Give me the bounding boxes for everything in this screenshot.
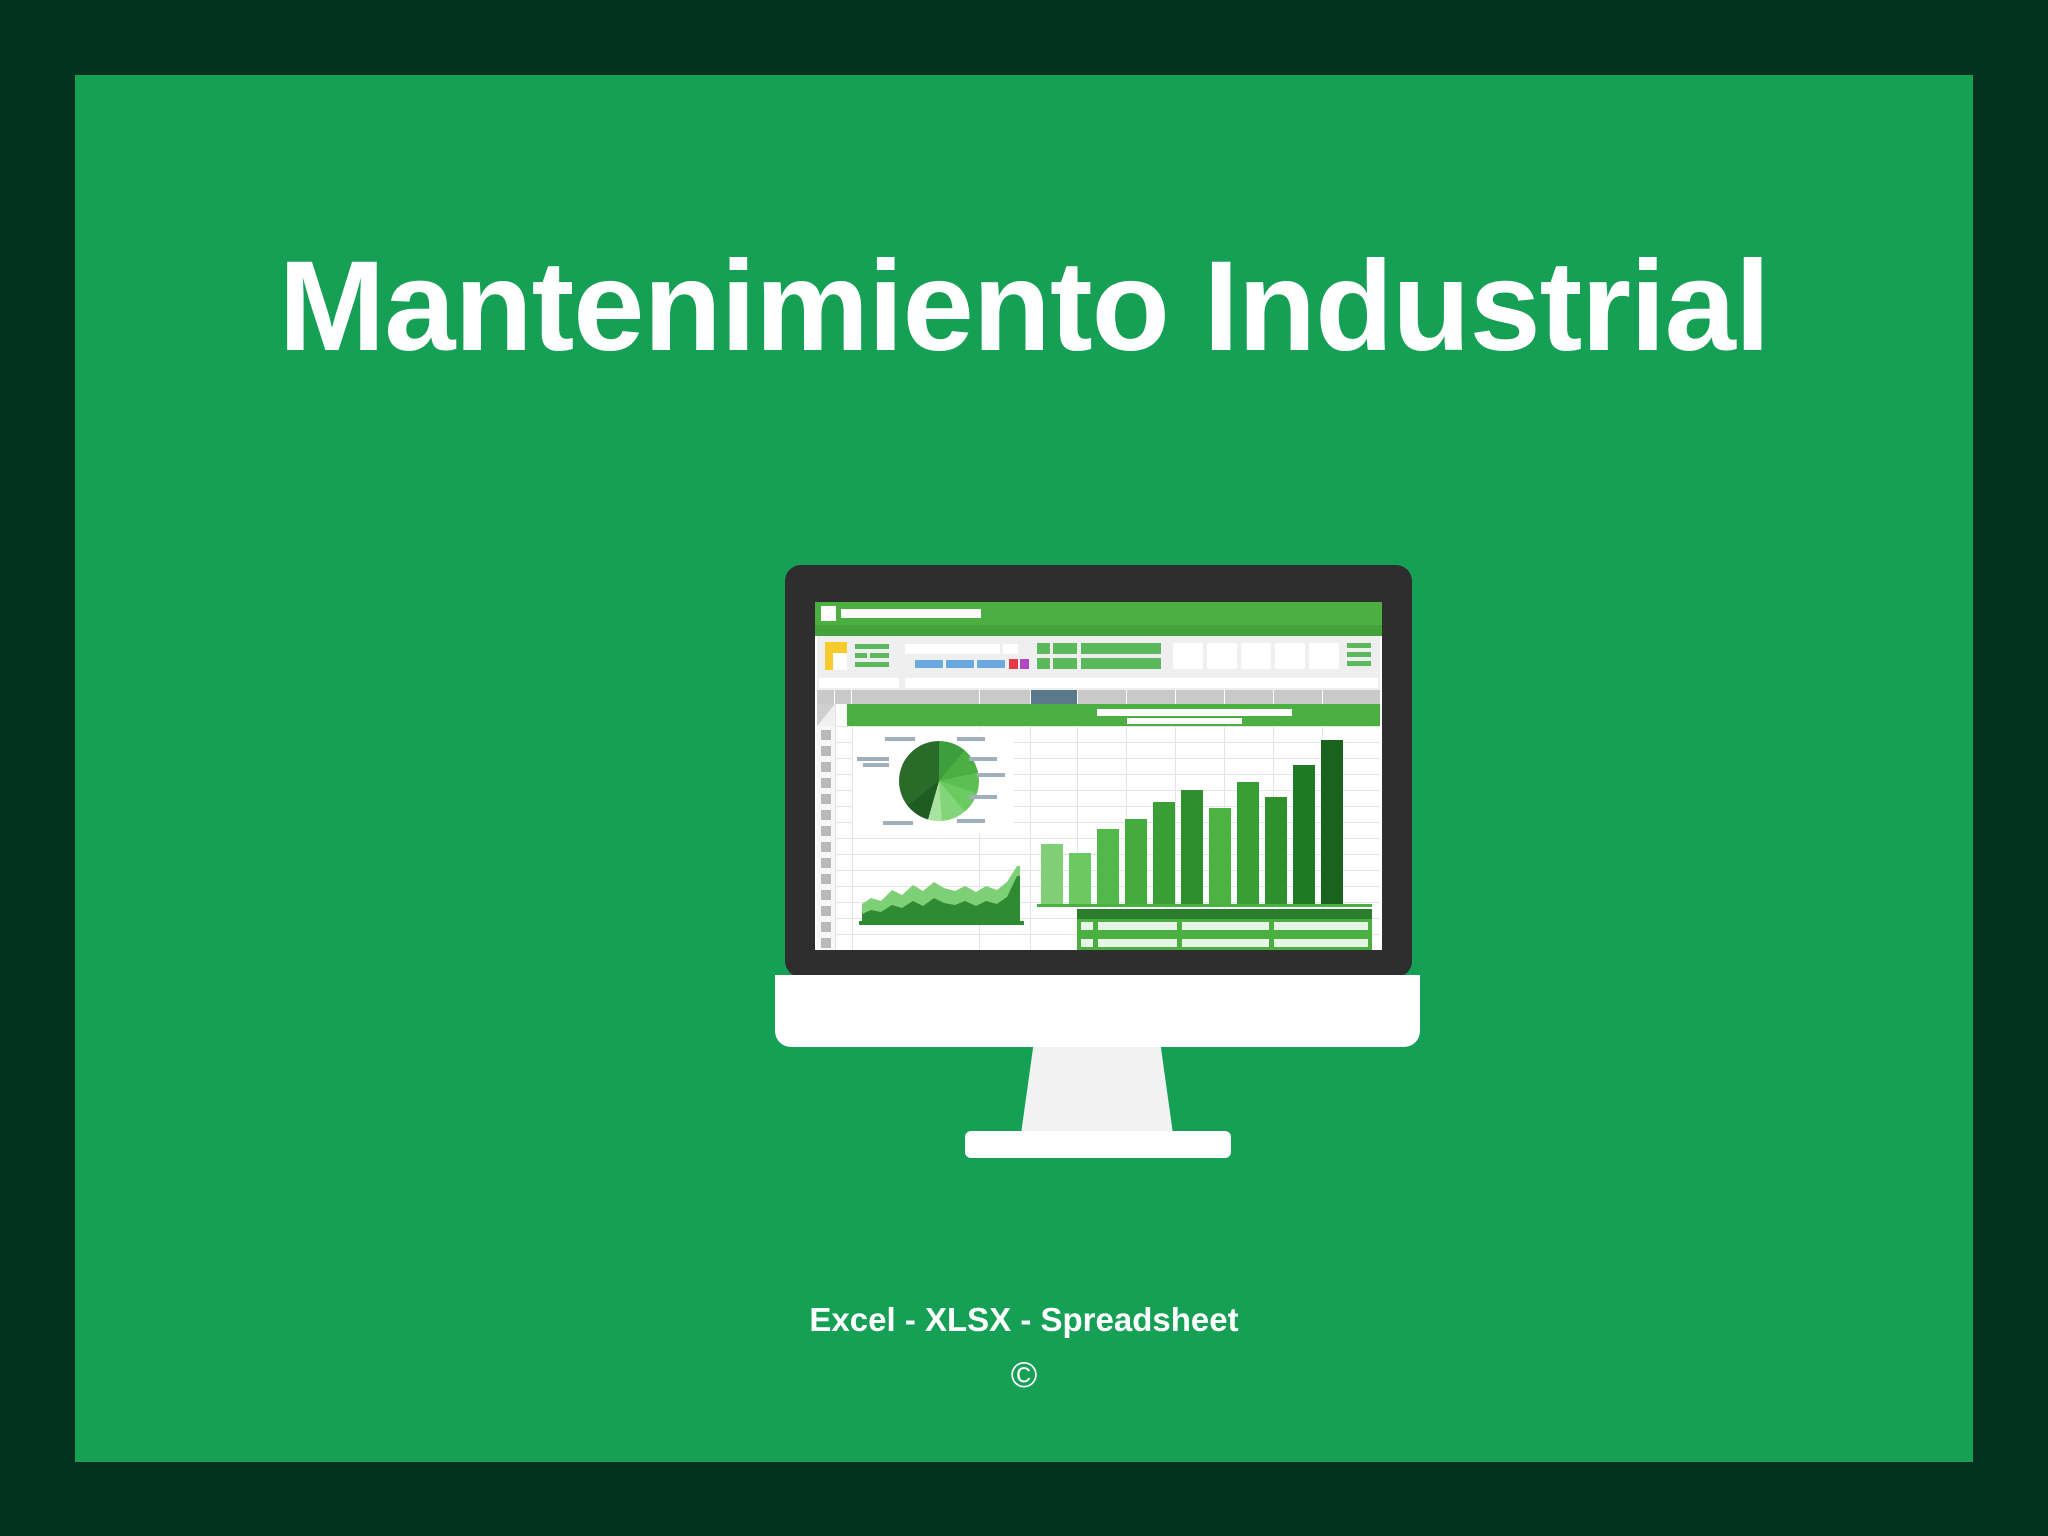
data-table (1077, 909, 1372, 950)
column-header[interactable] (852, 690, 979, 704)
slide-panel: Mantenimiento Industrial (75, 75, 1973, 1462)
styles-icon-b1[interactable] (1037, 658, 1050, 669)
footer-label: Excel - XLSX - Spreadsheet (75, 1300, 1973, 1340)
copyright-icon: © (75, 1346, 1973, 1404)
column-header[interactable] (1127, 690, 1175, 704)
pie-label-line (957, 737, 985, 741)
row-header[interactable] (821, 810, 831, 820)
row-header[interactable] (821, 842, 831, 852)
pie-label-line (969, 757, 997, 761)
align-button-1[interactable] (915, 660, 943, 668)
column-header-selected[interactable] (1031, 690, 1077, 704)
formula-bar[interactable] (817, 676, 1380, 690)
row-header[interactable] (821, 906, 831, 916)
pie-label-line (977, 773, 1005, 777)
table-row (1081, 922, 1368, 930)
pie-label-line (863, 763, 889, 767)
spreadsheet-ribbon[interactable] (817, 636, 1380, 676)
table-column-separator (1269, 919, 1274, 950)
column-header[interactable] (1176, 690, 1224, 704)
cells-button-1[interactable] (1173, 643, 1203, 669)
table-column-separator (1177, 919, 1182, 950)
grid-line-v (835, 704, 836, 950)
spreadsheet-titlebar (815, 602, 1382, 625)
page-title: Mantenimiento Industrial (75, 243, 1973, 371)
slide-root: Mantenimiento Industrial (0, 0, 2048, 1536)
formula-input[interactable] (905, 678, 1378, 688)
align-button-3[interactable] (977, 660, 1005, 668)
pie-chart-graphic (899, 741, 979, 821)
monitor-base (965, 1131, 1231, 1158)
cells-button-4[interactable] (1275, 643, 1305, 669)
styles-icon-a1[interactable] (1037, 643, 1050, 654)
select-all-corner-icon[interactable] (817, 704, 835, 726)
align-button-2[interactable] (946, 660, 974, 668)
footer: Excel - XLSX - Spreadsheet © (75, 1300, 1973, 1403)
column-headers (817, 690, 1380, 704)
styles-bar-b[interactable] (1081, 658, 1161, 669)
monitor-neck (1021, 1047, 1173, 1134)
row-header[interactable] (821, 826, 831, 836)
pie-label-line (885, 737, 915, 741)
cells-button-2[interactable] (1207, 643, 1237, 669)
bar-chart (1037, 714, 1372, 904)
bar (1097, 829, 1119, 904)
row-header[interactable] (821, 938, 831, 948)
cells-button-5[interactable] (1309, 643, 1339, 669)
table-header-row (1077, 909, 1372, 919)
bar (1321, 740, 1343, 904)
app-square-icon (821, 606, 836, 621)
purple-format-icon[interactable] (1020, 659, 1029, 669)
filename-bar (841, 609, 981, 618)
spreadsheet-tabstrip (815, 625, 1382, 636)
table-column-separator (1093, 919, 1098, 950)
bar (1265, 797, 1287, 904)
bar (1125, 819, 1147, 904)
row-header[interactable] (821, 874, 831, 884)
styles-icon-a2[interactable] (1053, 643, 1077, 654)
name-box[interactable] (819, 678, 899, 688)
column-header[interactable] (980, 690, 1030, 704)
pie-chart (853, 729, 1013, 834)
pie-label-line (857, 757, 889, 761)
row-header[interactable] (821, 778, 831, 788)
spreadsheet-grid[interactable] (817, 704, 1380, 950)
column-header[interactable] (817, 690, 834, 704)
pie-label-line (957, 819, 985, 823)
bar-chart-baseline (1037, 904, 1372, 907)
clipboard-icon-notch (833, 653, 847, 670)
row-header[interactable] (821, 794, 831, 804)
monitor-screen (815, 602, 1382, 950)
column-header[interactable] (1274, 690, 1322, 704)
column-header[interactable] (835, 690, 851, 704)
bar (1069, 853, 1091, 904)
column-header[interactable] (1078, 690, 1126, 704)
column-header[interactable] (1323, 690, 1380, 704)
bar (1153, 802, 1175, 904)
alignment-field-small[interactable] (1003, 644, 1018, 654)
row-header[interactable] (821, 746, 831, 756)
bar (1181, 790, 1203, 904)
pie-label-line (969, 795, 997, 799)
column-header[interactable] (1225, 690, 1273, 704)
row-header[interactable] (821, 762, 831, 772)
styles-bar-a[interactable] (1081, 643, 1161, 654)
bar (1209, 808, 1231, 904)
area-chart (859, 864, 1024, 926)
bar (1293, 765, 1315, 904)
monitor-illustration (775, 565, 1420, 1125)
row-header[interactable] (821, 922, 831, 932)
row-headers (817, 704, 835, 950)
row-header[interactable] (821, 858, 831, 868)
monitor-chin (775, 975, 1420, 1047)
cells-button-3[interactable] (1241, 643, 1271, 669)
row-header[interactable] (821, 730, 831, 740)
row-header[interactable] (821, 890, 831, 900)
table-row (1081, 939, 1368, 947)
styles-icon-b2[interactable] (1053, 658, 1077, 669)
bar (1041, 844, 1063, 904)
area-chart-svg (859, 864, 1024, 926)
pie-label-line (883, 821, 913, 825)
alignment-field[interactable] (905, 644, 1000, 654)
bar (1237, 782, 1259, 904)
red-format-icon[interactable] (1009, 659, 1018, 669)
grid-line-v (1030, 704, 1031, 950)
